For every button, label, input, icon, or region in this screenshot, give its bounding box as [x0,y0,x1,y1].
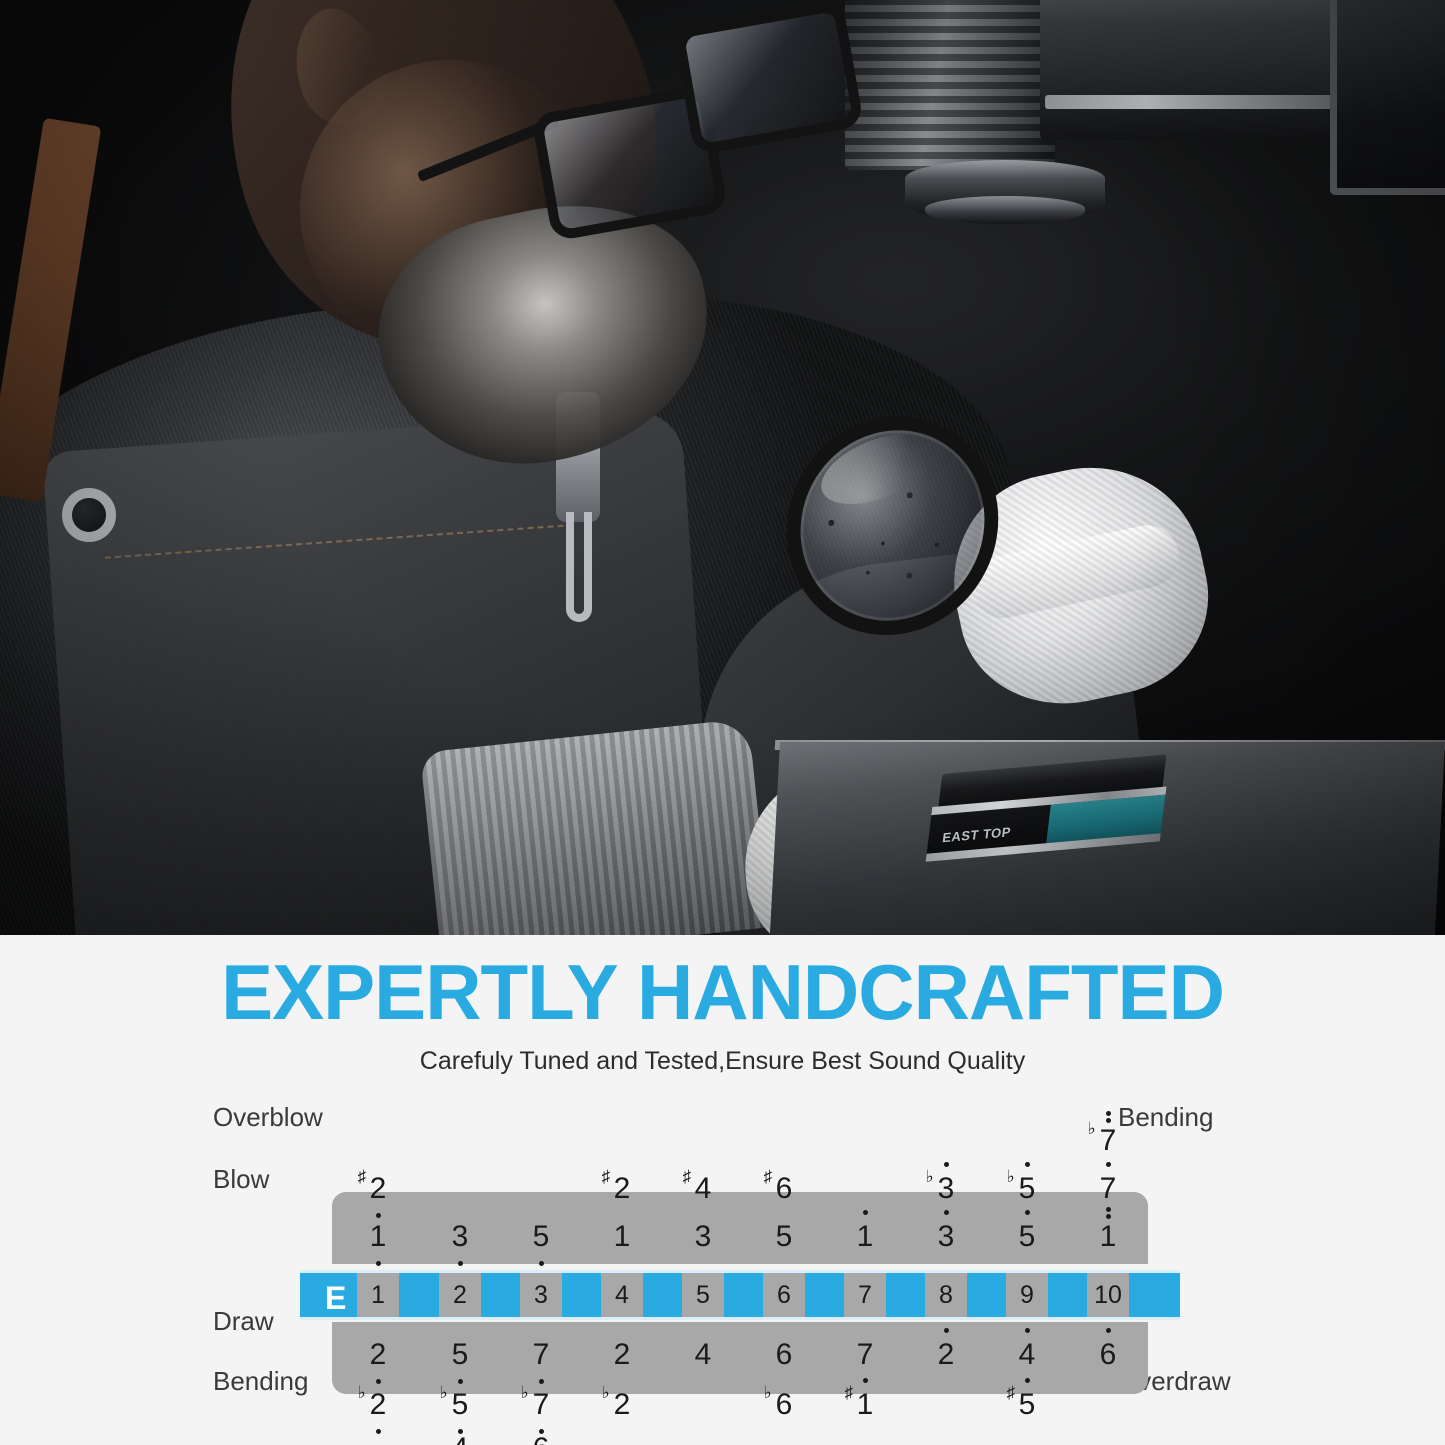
eyeglass-lens-right [673,0,865,156]
hole-7: 7 [844,1273,886,1317]
flat-icon: ♭ [1007,1168,1015,1185]
note-blow-hole-10: 1 [1078,1220,1138,1254]
sharp-icon: ♯ [683,1168,692,1185]
octave-dot-above [1019,1325,1036,1336]
octave-dot-above [938,1325,955,1336]
octave-dot-above [1100,1207,1117,1221]
octave-dot-above [938,1207,955,1218]
octave-dot-below [533,1376,550,1387]
note-overblow-hole-1: 2♯ [348,1172,408,1206]
note-draw-hole-5: 4 [673,1338,733,1372]
note-draw-hole-7: 7 [835,1338,895,1372]
hole-6: 6 [763,1273,805,1317]
note-bending-row-1-hole-9: 5♯ [997,1388,1057,1422]
note-bending-row-2-hole-2: 4 [430,1432,490,1445]
note-bending-row-1-hole-3: 7♭ [511,1388,571,1422]
microscope-screen [1330,0,1445,195]
flat-icon: ♭ [358,1384,366,1401]
octave-dot-below [533,1258,550,1269]
note-overblow-hole-6: 6♯ [754,1172,814,1206]
sharp-icon: ♯ [1007,1384,1016,1401]
hole-4: 4 [601,1273,643,1317]
hole-2: 2 [439,1273,481,1317]
octave-dot-above [857,1375,874,1386]
note-bending-row-1-hole-4: 2♭ [592,1388,652,1422]
flat-icon: ♭ [440,1384,448,1401]
note-draw-hole-10: 6 [1078,1338,1138,1372]
note-draw-hole-3: 7 [511,1338,571,1372]
note-draw-hole-2: 5 [430,1338,490,1372]
octave-dot-below [452,1376,469,1387]
note-draw-hole-1: 2 [348,1338,408,1372]
sharp-icon: ♯ [602,1168,611,1185]
flat-icon: ♭ [1088,1120,1096,1137]
note-draw-hole-6: 6 [754,1338,814,1372]
flat-icon: ♭ [926,1168,934,1185]
note-overblow-hole-10: 7 [1078,1172,1138,1206]
note-bending-row-2-hole-3: 6 [511,1432,571,1445]
octave-dot-below [370,1258,387,1269]
label-draw: Draw [213,1306,274,1337]
note-bending-row-1-hole-6: 6♭ [754,1388,814,1422]
microscope-arm-highlight [1045,95,1335,109]
note-draw-hole-4: 2 [592,1338,652,1372]
microscope-objective-lower [925,196,1085,224]
flat-icon: ♭ [764,1384,772,1401]
octave-dot-above [1100,1159,1117,1170]
hole-5: 5 [682,1273,724,1317]
octave-dot-below [370,1376,387,1387]
person-left-sleeve [420,718,770,935]
octave-dot-above [1100,1325,1117,1336]
note-draw-hole-8: 2 [916,1338,976,1372]
note-overblow-hole-9: 5♭ [997,1172,1057,1206]
microscope-arm [1040,0,1340,140]
sleeve-ribbing [420,718,770,935]
label-bending-left: Bending [213,1366,308,1397]
note-blow-hole-9: 5 [997,1220,1057,1254]
label-overblow: Overblow [213,1102,323,1133]
octave-dot-above [938,1159,955,1170]
info-panel: EXPERTLY HANDCRAFTED Carefuly Tuned and … [0,935,1445,1445]
sharp-icon: ♯ [358,1168,367,1185]
subheadline: Carefuly Tuned and Tested,Ensure Best So… [0,1047,1445,1076]
sharp-icon: ♯ [845,1384,854,1401]
hole-1: 1 [357,1273,399,1317]
octave-dot-above [1100,1111,1117,1125]
harmonica-key-label: E [325,1280,346,1317]
label-blow: Blow [213,1164,269,1195]
note-bending-row-1-hole-1: 2♭ [348,1388,408,1422]
hole-3: 3 [520,1273,562,1317]
note-blow-hole-4: 1 [592,1220,652,1254]
note-overblow-hole-8: 3♭ [916,1172,976,1206]
octave-dot-above [1019,1159,1036,1170]
note-bending-row-1-hole-7: 1♯ [835,1388,895,1422]
hole-9: 9 [1006,1273,1048,1317]
octave-dot-below [370,1426,387,1437]
octave-dot-below [452,1258,469,1269]
hole-number-bar [300,1270,1180,1320]
note-overblow-hole-5: 4♯ [673,1172,733,1206]
hero-photo: EAST TOP [0,0,1445,935]
headline: EXPERTLY HANDCRAFTED [0,935,1445,1031]
flat-icon: ♭ [602,1384,610,1401]
octave-dot-above [1019,1375,1036,1386]
flat-icon: ♭ [521,1384,529,1401]
note-blow-hole-5: 3 [673,1220,733,1254]
note-bending-row-1-hole-2: 5♭ [430,1388,490,1422]
note-blow-hole-8: 3 [916,1220,976,1254]
octave-dot-above [1019,1207,1036,1218]
hole-10: 10 [1087,1273,1129,1317]
apron-clasp-hook [566,512,592,622]
harmonica-note-chart: Overblow Blow Draw Bending Bending Overd… [0,1084,1445,1444]
note-blow-hole-2: 3 [430,1220,490,1254]
sharp-icon: ♯ [764,1168,773,1185]
apron-metal-ring [62,488,116,542]
note-blow-hole-6: 5 [754,1220,814,1254]
note-blow-hole-3: 5 [511,1220,571,1254]
note-blow-hole-7: 1 [835,1220,895,1254]
note-overblow-hole-4: 2♯ [592,1172,652,1206]
note-draw-hole-9: 4 [997,1338,1057,1372]
note-overblow-row-2-top--hole-10: 7♭ [1078,1124,1138,1158]
octave-dot-above [857,1207,874,1218]
hole-8: 8 [925,1273,967,1317]
note-blow-hole-1: 1 [348,1220,408,1254]
